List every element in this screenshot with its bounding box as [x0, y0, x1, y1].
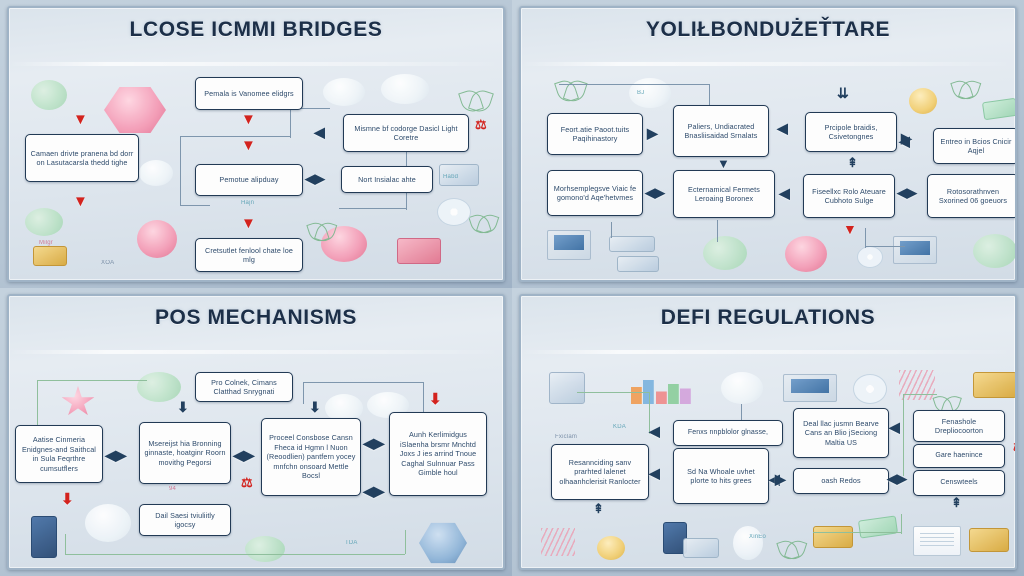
flow-box-label: Censwteels [940, 478, 977, 487]
cloud-icon [245, 536, 285, 562]
flow-box-label: Resannciding sanv prarhted lalenet olhaa… [556, 458, 644, 487]
flow-box-label: Fenashole Drepliocoorton [918, 417, 1000, 436]
cloud-sticker-icon [323, 78, 365, 106]
connector-line [577, 392, 649, 393]
connector-line [903, 394, 904, 476]
flow-box[interactable]: Censwteels [913, 470, 1005, 496]
flow-box-label: oash Redos [821, 476, 860, 486]
arrow-left-icon: ◀ [649, 424, 660, 438]
flow-box-label: Sd Na Whoale uvhet plorte to hits grees [678, 467, 764, 486]
clipboard-icon [721, 372, 763, 404]
plant-icon [557, 74, 585, 102]
flow-box-label: Gare haenince [935, 451, 982, 460]
sticker-label-milgr: Milgr [39, 240, 53, 246]
panel-title-top-left: LCOSE ICMMI BRIDGES [9, 18, 503, 42]
flow-box[interactable]: Deal llac jusmn Bearve Cans an Blio jSec… [793, 408, 889, 458]
arrow-left-icon: ◀ [777, 121, 788, 135]
arrow-up-icon: ⇞ [847, 156, 858, 169]
gold-bar-icon [813, 526, 853, 548]
flow-box-label: Feort.atie Paoot.tuits Paqihinastory [552, 125, 638, 144]
flow-box-label: Pemotue alipduay [219, 175, 278, 185]
flow-box[interactable]: Proceel Consbose Cansn Fheca id Hgmn l N… [261, 418, 361, 496]
badge-hex-icon [104, 86, 166, 134]
flow-box-label: Entreo in Bcios Cnicir Aqjel [938, 137, 1014, 156]
flow-box[interactable]: Aatise Cinmeria Enidgnes-and Saithcal in… [15, 425, 103, 483]
plant-icon [953, 74, 979, 100]
arrow-down-icon: ▼ [73, 194, 88, 209]
flow-box-label: Cretsutlet fenlool chate loe mlg [200, 246, 298, 265]
server-icon [683, 538, 719, 558]
arrow-left-right-icon: ◀▶ [897, 186, 917, 199]
monitor-icon [783, 374, 837, 402]
moneybag-icon [597, 536, 625, 560]
connector-line [559, 84, 709, 85]
flow-box[interactable]: Feort.atie Paoot.tuits Paqihinastory [547, 113, 643, 155]
panel-title-bottom-left: POS MECHANISMS [9, 306, 503, 330]
flow-box[interactable]: Mismne bf codorge Dasicl Light Coretre [343, 114, 469, 152]
connector-line [180, 136, 290, 137]
flow-box[interactable]: Aunh Kerlimidgus iSlaenha brsmr Mnchtd J… [389, 412, 487, 496]
arrow-down-icon: ▼ [843, 222, 857, 236]
hardware-wallet-icon [31, 516, 57, 558]
plant-icon [779, 534, 805, 560]
factory-icon [85, 504, 131, 542]
network-node-icon [853, 374, 887, 404]
arrow-down-icon: ⬇ [61, 492, 74, 507]
connector-line [180, 205, 210, 206]
coin-icon [31, 80, 67, 110]
sticker-label-hajn: Hajn [241, 200, 254, 206]
flow-box-label: Aunh Kerlimidgus iSlaenha brsmr Mnchtd J… [394, 430, 482, 478]
scale-icon: ⚖ [241, 478, 253, 488]
document-icon [913, 526, 961, 556]
flow-box-label: Dail Saesi tviuliitly igocsy [144, 511, 226, 530]
gold-bar-icon [969, 528, 1009, 552]
flow-box-label: Msereijst hia Bronning ginnaste, hoatgin… [144, 439, 226, 468]
flow-box[interactable]: Rotosorathnven Sxorined 06 goeuors [927, 174, 1017, 218]
cloud-icon [137, 372, 181, 402]
flow-box[interactable]: Ecternamical Fermets Leroaing Boronex [673, 170, 775, 218]
arrow-down-icon: ⬇ [429, 392, 442, 407]
cloud-icon [381, 74, 429, 104]
connector-line [611, 222, 612, 238]
scale-icon: ⚖ [475, 120, 487, 130]
arrow-right-icon: ▶ [775, 472, 786, 486]
connector-line [865, 246, 905, 247]
arrow-left-right-icon: ◀▶ [233, 448, 255, 462]
sticker-label-xineo: XinEo [749, 534, 766, 540]
connector-line [865, 228, 866, 248]
connector-line [717, 220, 718, 242]
sun-cloud-icon [139, 160, 173, 186]
flow-box-label: Aatise Cinmeria Enidgnes-and Saithcal in… [20, 435, 98, 473]
flow-box-label: Camaen drivte pranena bd dorr on Lasutac… [30, 149, 134, 168]
connector-line [903, 394, 937, 395]
flow-box[interactable]: Morhsemplegsve Viaic fe gomono'd Aqe'het… [547, 170, 643, 216]
moneybag-icon [909, 88, 937, 114]
sticker-label-xoa: XOA [101, 260, 114, 266]
banknote-icon [858, 515, 898, 538]
arrow-down-icon: ▼ [241, 112, 256, 127]
connector-line [65, 534, 66, 554]
flow-box[interactable]: Msereijst hia Bronning ginnaste, hoatgin… [139, 422, 231, 484]
arrow-right-icon: ▶ [647, 126, 658, 140]
flow-box[interactable]: Entreo in Bcios Cnicir Aqjel [933, 128, 1017, 164]
scribble-icon [541, 528, 575, 556]
connector-line [901, 514, 902, 534]
flow-box[interactable]: Sd Na Whoale uvhet plorte to hits grees [673, 448, 769, 504]
flow-box-label: Pro Colnek, Cimans Clatthad Snrygnati [200, 378, 288, 397]
star-icon [61, 386, 95, 418]
connector-line [290, 108, 291, 138]
arrow-left-right-icon: ◀▶ [887, 472, 907, 485]
arrow-down-icon: ▼ [73, 112, 88, 127]
brain-icon [703, 236, 747, 270]
flow-box[interactable]: Pemotue alipduay [195, 164, 303, 196]
panel-title-top-right: YOLIŁBONDUŻEŤTARE [521, 18, 1015, 42]
flow-box[interactable]: Fenxs nnpblolor glnasse, [673, 420, 783, 446]
flow-box[interactable]: Paliers, Undiacrated Bnasliisaidad Srnal… [673, 105, 769, 157]
connector-line [37, 380, 147, 381]
shield-sticker-icon [137, 220, 177, 258]
arrow-left-right-icon: ◀▶ [305, 172, 325, 185]
network-node-icon [437, 198, 471, 226]
panel-title-bottom-right: DEFI REGULATIONS [521, 306, 1015, 330]
vault-icon [785, 236, 827, 272]
flask-icon [733, 526, 763, 560]
flow-box-label: Prcipole braidis, Csivetongnes [810, 123, 892, 142]
sticker-label-tda: TDA [345, 540, 358, 546]
flow-box[interactable]: Cretsutlet fenlool chate loe mlg [195, 238, 303, 272]
sprout-icon [471, 208, 497, 234]
flow-box[interactable]: Gare haenince [913, 444, 1005, 468]
arrow-left-right-icon: ◀▶ [363, 484, 385, 498]
arrow-up-icon: ⇞ [593, 502, 604, 515]
flow-box[interactable]: Fenashole Drepliocoorton [913, 410, 1005, 442]
panel-bottom-right: DEFI REGULATIONS KDA Fxiclam XinEo [512, 288, 1024, 576]
sticker-label-habd: Habd [443, 174, 458, 180]
arrow-down-icon: ⬇ [177, 400, 189, 414]
hex-chip-icon [419, 522, 467, 564]
flow-box[interactable]: Pro Colnek, Cimans Clatthad Snrygnati [195, 372, 293, 402]
arrow-left-right-icon: ◀▶ [645, 186, 665, 199]
flow-box-label: Fenxs nnpblolor glnasse, [688, 428, 768, 437]
scale-icon: ⚖ [1013, 442, 1017, 452]
connector-line [813, 532, 901, 533]
arrow-left-icon: ◀ [314, 125, 325, 139]
flow-box-label: Mismne bf codorge Dasicl Light Coretre [348, 124, 464, 143]
gold-bar-icon [33, 246, 67, 266]
arrow-double-down-icon: ⇊ [837, 86, 849, 100]
connector-line [180, 136, 181, 206]
flow-box-label: Ecternamical Fermets Leroaing Boronex [678, 185, 770, 204]
flow-box-label: Proceel Consbose Cansn Fheca id Hgmn l N… [266, 433, 356, 481]
sticker-label-fxiclam: Fxiclam [555, 434, 577, 440]
arrow-left-right-icon: ◀▶ [105, 448, 127, 462]
flow-box[interactable]: Resannciding sanv prarhted lalenet olhaa… [551, 444, 649, 500]
panel-bottom-left: POS MECHANISMS 94 TDA Pro Colnek, Cimans… [0, 288, 512, 576]
sticker-label-94: 94 [169, 486, 176, 492]
connector-line [37, 380, 38, 426]
arrow-left-right-icon: ◀▶ [363, 436, 385, 450]
plant-icon [461, 84, 491, 112]
flow-box[interactable]: Camaen drivte pranena bd dorr on Lasutac… [25, 134, 139, 182]
network-node-icon [857, 246, 883, 268]
flow-box-label: Paliers, Undiacrated Bnasliisaidad Srnal… [678, 122, 764, 141]
flow-box[interactable]: Pemala is Vanomee elidgrs [195, 77, 303, 110]
cloud-brain-icon [973, 234, 1017, 268]
flow-box[interactable]: Fiseellxc Rolo Ateuare Cubhoto Sulge [803, 174, 895, 218]
sticker-label-kda: KDA [613, 424, 626, 430]
flow-box-label: Fiseellxc Rolo Ateuare Cubhoto Sulge [808, 187, 890, 206]
arrow-left-icon: ◀ [899, 134, 910, 148]
connector-line [303, 382, 304, 404]
sticker-label-bj: BJ [637, 90, 644, 96]
flow-box-label: Nort Insialac ahte [358, 175, 416, 185]
flow-box[interactable]: Dail Saesi tviuliitly igocsy [139, 504, 231, 536]
laptop-icon [893, 236, 937, 264]
arrow-left-icon: ◀ [649, 466, 660, 480]
flow-box-label: Deal llac jusmn Bearve Cans an Blio jSec… [798, 419, 884, 448]
connector-line [303, 382, 423, 383]
arrow-left-icon: ◀ [779, 186, 790, 200]
banknote-icon [982, 98, 1017, 121]
panel-top-right: YOLIŁBONDUŻEŤTARE BJ Feort.a [512, 0, 1024, 288]
device-icon [617, 256, 659, 272]
flow-box-label: Morhsemplegsve Viaic fe gomono'd Aqe'het… [552, 184, 638, 203]
server-rack-icon [397, 238, 441, 264]
arrow-down-icon: ⬇ [309, 400, 321, 414]
arrow-down-icon: ▼ [717, 157, 730, 170]
leaf-icon [309, 216, 335, 242]
report-card-icon [549, 372, 585, 404]
arrow-down-icon: ▼ [241, 138, 256, 153]
arrow-up-icon: ⇞ [951, 496, 962, 509]
gold-bar-icon [973, 372, 1017, 398]
panel-top-left: LCOSE ICMMI BRIDGES Milgr XOA Hajn Habd [0, 0, 512, 288]
arrow-down-icon: ▼ [241, 216, 256, 231]
flow-box[interactable]: Nort Insialac ahte [341, 166, 433, 193]
connector-line [339, 208, 407, 209]
flow-box-label: Rotosorathnven Sxorined 06 goeuors [932, 187, 1014, 206]
infographic-grid: LCOSE ICMMI BRIDGES Milgr XOA Hajn Habd [0, 0, 1024, 576]
arrow-left-icon: ◀ [889, 420, 900, 434]
connector-line [65, 554, 405, 555]
flow-box[interactable]: oash Redos [793, 468, 889, 494]
cloud-icon [629, 78, 671, 108]
bar-chart-icon [631, 376, 691, 404]
flow-box-label: Pemala is Vanomee elidgrs [204, 89, 293, 99]
scribble-icon [899, 370, 935, 400]
connector-line [405, 530, 406, 554]
brain-icon [25, 208, 63, 236]
flow-box[interactable]: Prcipole braidis, Csivetongnes [805, 112, 897, 152]
monitor-icon [547, 230, 591, 260]
keyboard-icon [609, 236, 655, 252]
